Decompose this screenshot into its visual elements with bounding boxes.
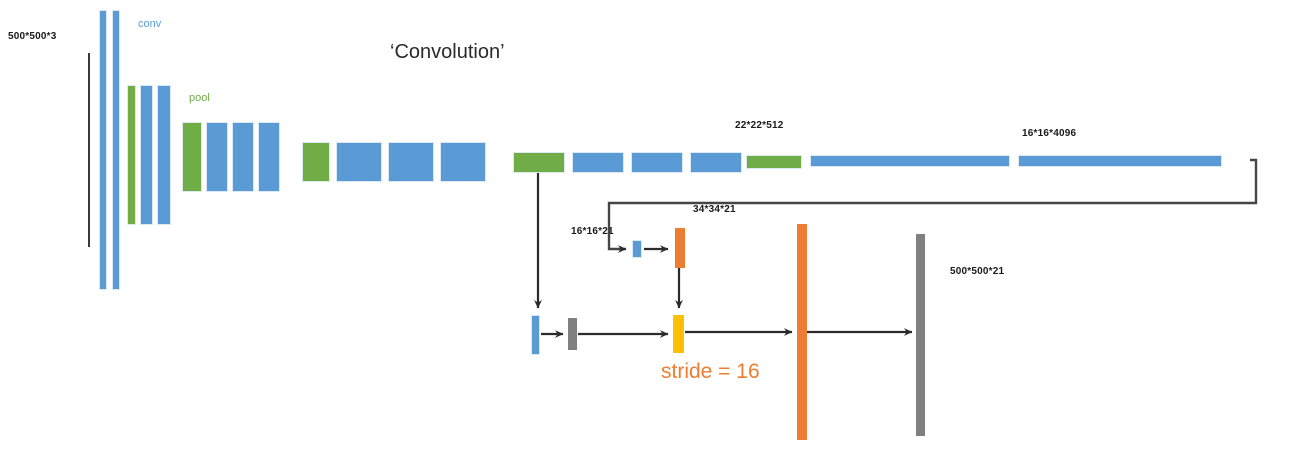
legend-pool-label: pool <box>189 92 210 104</box>
conv-block-6 <box>336 142 382 182</box>
conv-block-8 <box>440 142 486 182</box>
fc-block-1 <box>810 155 1010 167</box>
conv-block-1 <box>140 85 153 225</box>
conv-block-2 <box>157 85 171 225</box>
diagram-canvas: ‘Convolution’ conv pool 500*500*3 22*22*… <box>0 0 1298 462</box>
decoder-orange-bar <box>797 224 807 440</box>
connector-overlay <box>0 0 1298 462</box>
input-height-axis <box>88 53 90 247</box>
pool-block-3 <box>302 142 330 182</box>
label-pool5-dims: 22*22*512 <box>735 120 784 131</box>
stride-annotation: stride = 16 <box>661 360 760 384</box>
conv-block-7 <box>388 142 434 182</box>
label-fc-dims: 16*16*4096 <box>1022 128 1076 139</box>
output-gray-bar <box>916 234 925 436</box>
score-small-bar <box>632 240 642 258</box>
conv-block-5 <box>258 122 280 192</box>
input-bar-1 <box>99 10 107 290</box>
label-upsampled-dims: 34*34*21 <box>693 204 736 215</box>
conv-block-9 <box>572 152 624 173</box>
conv-block-3 <box>206 122 228 192</box>
conv-block-4 <box>232 122 254 192</box>
pool-block-4 <box>513 152 565 173</box>
fc-block-2 <box>1018 155 1222 167</box>
decoder-blue-bar <box>531 315 540 355</box>
label-score-dims: 16*16*21 <box>571 226 614 237</box>
page-title: ‘Convolution’ <box>390 41 505 64</box>
pool-block-5 <box>746 155 802 169</box>
decoder-yellow-bar <box>673 315 684 353</box>
decoder-gray-bar <box>568 318 577 350</box>
pool-block-2 <box>182 122 202 192</box>
legend-conv-label: conv <box>138 18 161 30</box>
conv-block-10 <box>631 152 683 173</box>
label-input-dims: 500*500*3 <box>8 31 57 42</box>
pool-block-1 <box>127 85 136 225</box>
upsample-bar-small <box>675 228 685 268</box>
input-bar-2 <box>112 10 120 290</box>
conv-block-11 <box>690 152 742 173</box>
label-output-dims: 500*500*21 <box>950 266 1004 277</box>
